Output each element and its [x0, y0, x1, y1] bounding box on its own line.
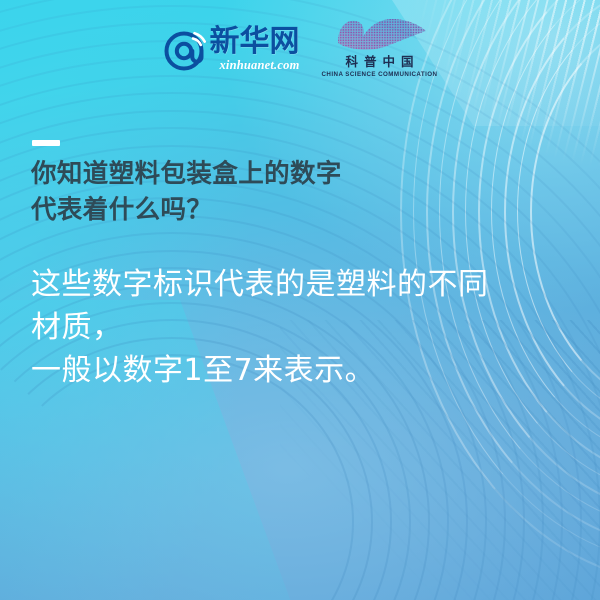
body-copy: 这些数字标识代表的是塑料的不同 材质， 一般以数字1至7来表示。	[31, 263, 551, 393]
kepu-china-logo[interactable]: 科普中国 CHINA SCIENCE COMMUNICATION	[322, 14, 438, 78]
xinhuanet-wordmark: 新华网 xinhuanet.com	[210, 27, 300, 72]
body-line-2: 材质，	[31, 306, 551, 349]
kepu-name-cn: 科普中国	[339, 51, 419, 70]
xinhuanet-name-en: xinhuanet.com	[210, 59, 300, 72]
logo-header: 新华网 xinhuanet.com	[0, 0, 600, 92]
poster-canvas: 新华网 xinhuanet.com	[0, 0, 600, 600]
at-sign-icon	[163, 27, 207, 71]
xinhuanet-name-cn: 新华网	[210, 27, 300, 57]
headline-line-2: 代表着什么吗？	[31, 192, 461, 228]
page-title: 你知道塑料包装盒上的数字 代表着什么吗？	[31, 156, 461, 228]
kepu-name-en: CHINA SCIENCE COMMUNICATION	[322, 71, 438, 78]
kepu-wing-icon	[332, 16, 428, 50]
accent-dash	[32, 140, 60, 146]
body-line-3: 一般以数字1至7来表示。	[31, 349, 551, 392]
body-line-1: 这些数字标识代表的是塑料的不同	[31, 263, 551, 306]
headline-line-1: 你知道塑料包装盒上的数字	[31, 156, 461, 192]
xinhuanet-logo[interactable]: 新华网 xinhuanet.com	[163, 21, 300, 71]
